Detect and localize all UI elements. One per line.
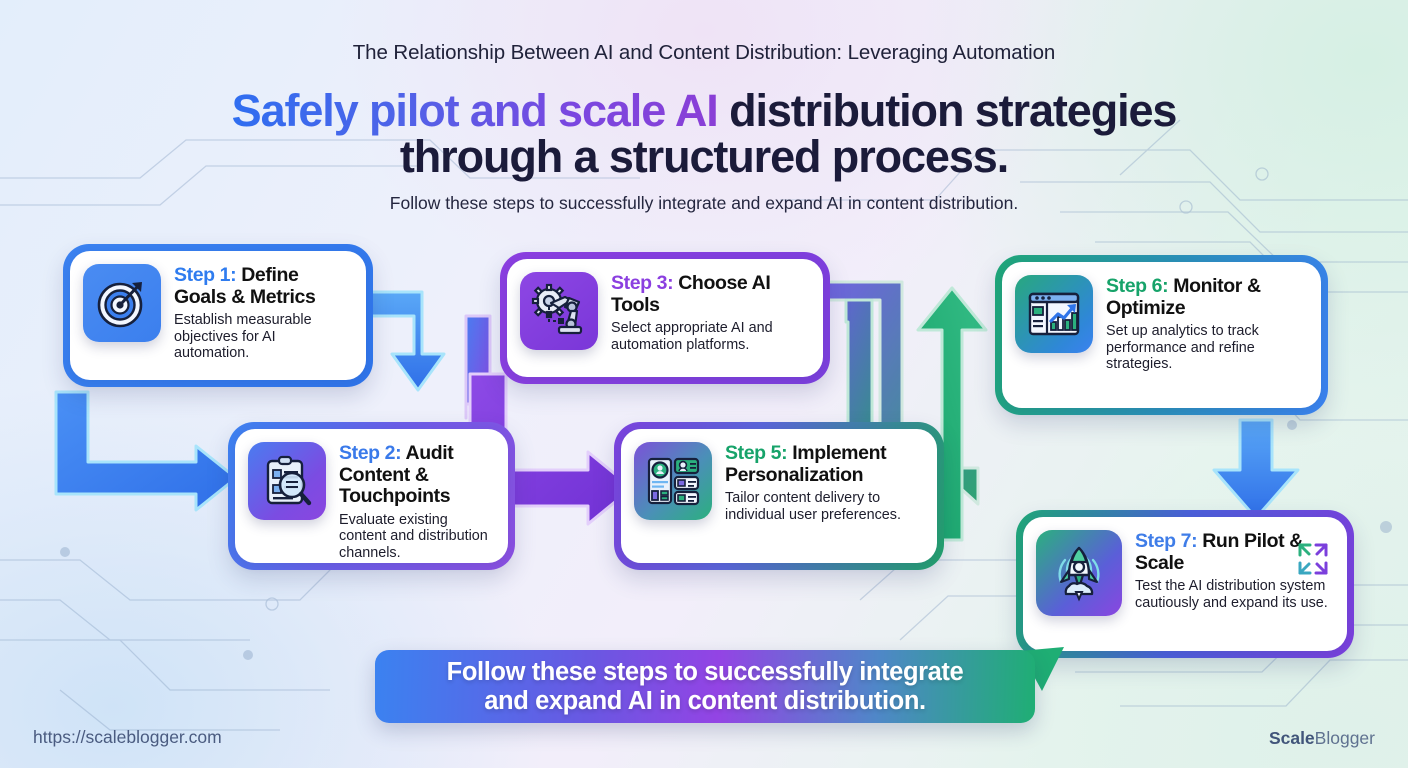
step-1-label: Step 1: xyxy=(174,264,236,286)
clipboard-magnifier-icon xyxy=(248,442,326,520)
step-3-desc: Select appropriate AI and automation pla… xyxy=(611,320,808,353)
step-7-desc: Test the AI distribution system cautious… xyxy=(1135,578,1332,611)
step-5-label: Step 5: xyxy=(725,442,787,464)
analytics-dashboard-icon xyxy=(1015,275,1093,353)
target-icon xyxy=(83,264,161,342)
step-5-title: Step 5: Implement Personalization xyxy=(725,443,922,486)
brand-light: Blogger xyxy=(1315,728,1375,748)
robot-arm-gear-icon xyxy=(520,272,598,350)
banner-line-2: and expand AI in content distribution. xyxy=(484,687,925,715)
step-6-desc: Set up analytics to track performance an… xyxy=(1106,323,1306,373)
step-2-title: Step 2: Audit Content & Touchpoints xyxy=(339,443,493,508)
step-5-desc: Tailor content delivery to individual us… xyxy=(725,490,922,523)
expand-arrows-icon[interactable] xyxy=(1295,541,1331,577)
headline-accent: Safely pilot and scale AI xyxy=(232,85,718,136)
step-card-6[interactable]: Step 6: Monitor & Optimize Set up analyt… xyxy=(995,255,1328,415)
step-1-title: Step 1: Define Goals & Metrics xyxy=(174,265,351,308)
user-profile-cards-icon xyxy=(634,442,712,520)
footer-url[interactable]: https://scaleblogger.com xyxy=(33,727,222,748)
step-card-2[interactable]: Step 2: Audit Content & Touchpoints Eval… xyxy=(228,422,515,570)
step-7-label: Step 7: xyxy=(1135,530,1197,552)
step-2-label: Step 2: xyxy=(339,442,401,464)
step-card-5[interactable]: Step 5: Implement Personalization Tailor… xyxy=(614,422,944,570)
page-kicker: The Relationship Between AI and Content … xyxy=(0,41,1408,65)
brand-bold: Scale xyxy=(1269,728,1315,748)
banner-text: Follow these steps to successfully integ… xyxy=(425,658,986,716)
step-card-3[interactable]: Step 3: Choose AI Tools Select appropria… xyxy=(500,252,830,384)
step-3-label: Step 3: xyxy=(611,272,673,294)
brand-logo: ScaleBlogger xyxy=(1269,728,1375,749)
page-subtitle: Follow these steps to successfully integ… xyxy=(0,193,1408,214)
page-title: Safely pilot and scale AI distribution s… xyxy=(154,88,1254,180)
step-card-7[interactable]: Step 7: Run Pilot & Scale Test the AI di… xyxy=(1016,510,1354,658)
step-6-title: Step 6: Monitor & Optimize xyxy=(1106,276,1306,319)
step-3-title: Step 3: Choose AI Tools xyxy=(611,273,808,316)
step-card-1[interactable]: Step 1: Define Goals & Metrics Establish… xyxy=(63,244,373,387)
step-1-desc: Establish measurable objectives for AI a… xyxy=(174,312,351,362)
step-2-desc: Evaluate existing content and distributi… xyxy=(339,512,493,562)
rocket-icon xyxy=(1036,530,1122,616)
step-6-label: Step 6: xyxy=(1106,275,1168,297)
summary-banner: Follow these steps to successfully integ… xyxy=(375,650,1035,723)
banner-line-1: Follow these steps to successfully integ… xyxy=(447,658,964,686)
